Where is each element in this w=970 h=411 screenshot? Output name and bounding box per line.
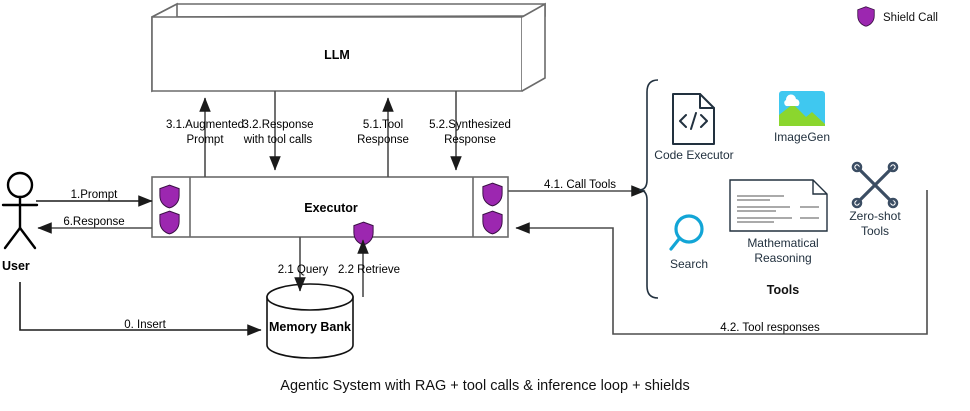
shield-icon-tool-call xyxy=(483,183,502,206)
user-leg-right xyxy=(20,228,35,248)
tool-image-gen[interactable]: ImageGen xyxy=(774,91,830,144)
edge-label-5-2-line2: Response xyxy=(444,134,496,146)
edge-label-5-2-line1: 5.2.Synthesized xyxy=(429,119,511,131)
executor-label: Executor xyxy=(304,201,358,215)
edge-label-3-1-line2: Prompt xyxy=(186,134,224,146)
agentic-system-diagram: LLM Executor Memory Bank User 3.1.Augmen… xyxy=(0,0,970,411)
edge-label-0-insert: 0. Insert xyxy=(124,319,166,331)
edge-label-6-response: 6.Response xyxy=(63,216,124,228)
edge-label-4-1-call-tools: 4.1. Call Tools xyxy=(544,179,616,191)
tool-code-executor[interactable]: Code Executor xyxy=(654,94,733,162)
tool-label-image-gen: ImageGen xyxy=(774,130,830,144)
llm-node: LLM xyxy=(152,4,545,91)
tool-label-code-executor: Code Executor xyxy=(654,148,733,162)
tool-zero-shot-tools[interactable]: Zero-shot Tools xyxy=(849,163,901,238)
tool-search[interactable]: Search xyxy=(670,216,708,271)
shield-icon-legend xyxy=(858,7,875,27)
memory-bank-label: Memory Bank xyxy=(269,320,351,334)
user-node: User xyxy=(2,173,37,273)
edge-label-2-2-retrieve: 2.2 Retrieve xyxy=(338,264,400,276)
crossed-wrenches-icon xyxy=(853,163,897,207)
tool-label-zero-shot-tools-line2: Tools xyxy=(861,224,889,238)
llm-box-top xyxy=(152,4,545,17)
tools-group-label: Tools xyxy=(767,283,799,297)
edge-label-3-2-line2: with tool calls xyxy=(243,134,313,146)
user-leg-left xyxy=(5,228,20,248)
code-angle-brackets-icon xyxy=(680,113,707,129)
llm-label: LLM xyxy=(324,48,350,62)
edge-label-5-1-line1: 5.1.Tool xyxy=(363,119,403,131)
user-head xyxy=(8,173,32,197)
tool-mathematical-reasoning[interactable]: Mathematical Reasoning xyxy=(730,180,827,265)
edge-label-2-1-query: 2.1 Query xyxy=(278,264,329,276)
diagram-caption: Agentic System with RAG + tool calls & i… xyxy=(280,378,689,394)
memory-bank-top xyxy=(267,284,353,310)
legend-shield-call: Shield Call xyxy=(858,7,938,27)
executor-node: Executor xyxy=(152,177,508,245)
edge-label-3-1-line1: 3.1.Augmented xyxy=(166,119,244,131)
diagram-canvas: LLM Executor Memory Bank User 3.1.Augmen… xyxy=(0,0,970,411)
memory-bank-node: Memory Bank xyxy=(267,284,353,358)
edge-label-1-prompt: 1.Prompt xyxy=(71,189,118,201)
tool-label-mathematical-reasoning-line2: Reasoning xyxy=(754,251,811,265)
shield-icon-tool-response xyxy=(483,211,502,234)
magnifier-handle-icon xyxy=(671,239,679,249)
edge-label-5-1-line2: Response xyxy=(357,134,409,146)
tool-label-search: Search xyxy=(670,257,708,271)
tool-label-zero-shot-tools-line1: Zero-shot xyxy=(849,209,901,223)
edge-label-3-2-line1: 3.2.Response xyxy=(243,119,314,131)
edge-label-4-2-tool-responses: 4.2. Tool responses xyxy=(720,322,820,334)
legend-label: Shield Call xyxy=(883,12,938,24)
tools-group-brace xyxy=(639,80,658,298)
shield-icon-input xyxy=(160,185,179,208)
llm-box-edge xyxy=(522,4,545,91)
shield-icon-output xyxy=(160,211,179,234)
tool-label-mathematical-reasoning-line1: Mathematical xyxy=(747,236,818,250)
user-label: User xyxy=(2,259,30,273)
